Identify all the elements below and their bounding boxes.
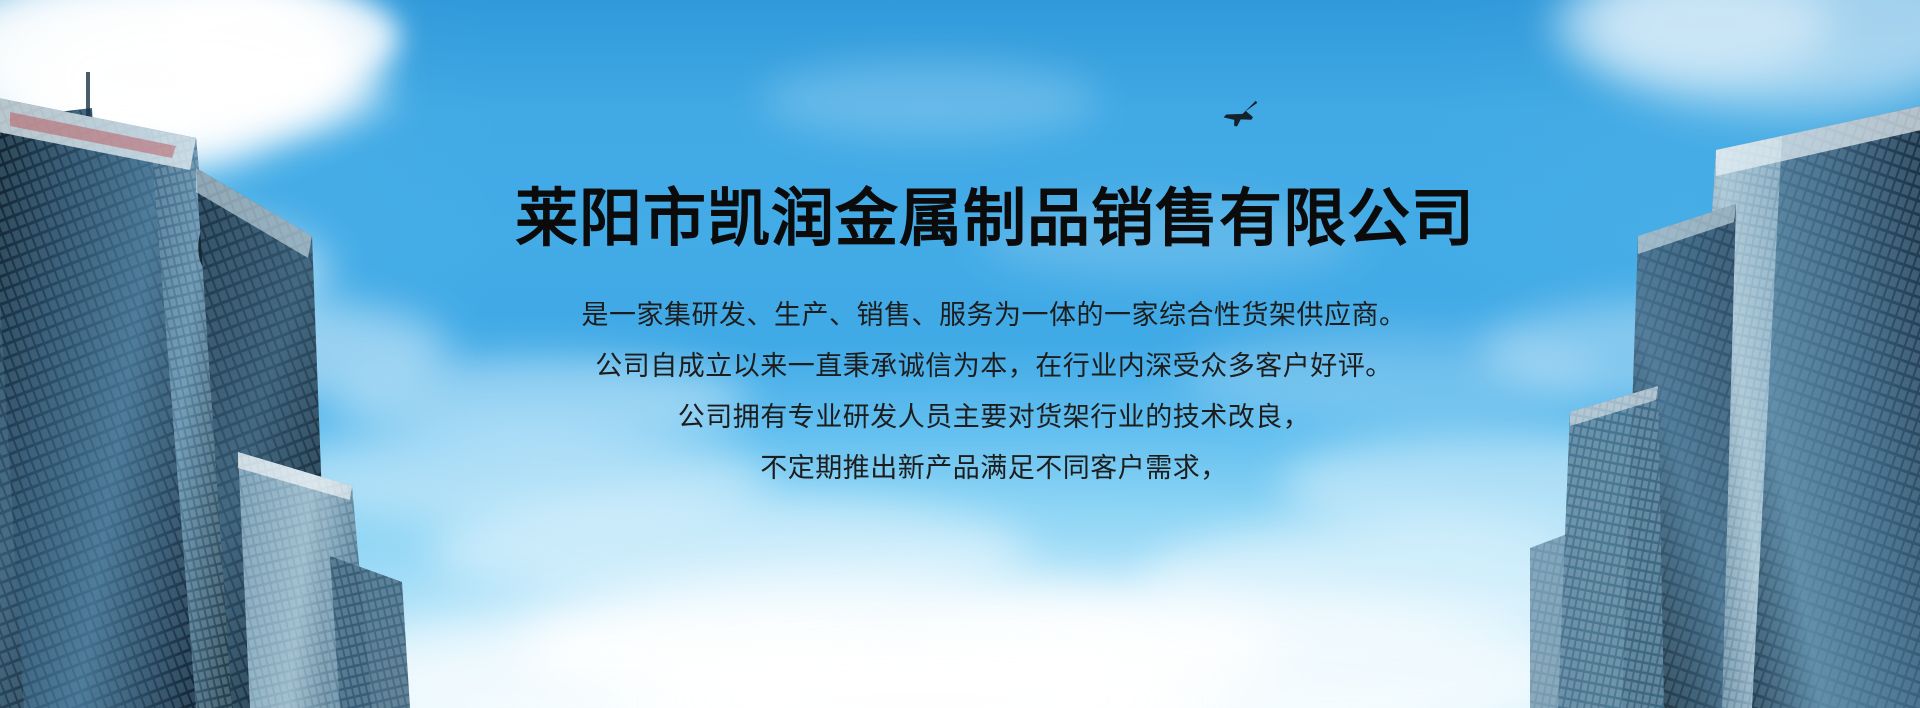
- hero-banner: 莱阳市凯润金属制品销售有限公司 是一家集研发、生产、销售、服务为一体的一家综合性…: [0, 0, 1920, 708]
- description-line-2: 公司自成立以来一直秉承诚信为本，在行业内深受众多客户好评。: [68, 341, 1920, 392]
- banner-content: 莱阳市凯润金属制品销售有限公司 是一家集研发、生产、销售、服务为一体的一家综合性…: [0, 0, 1920, 708]
- page-title: 莱阳市凯润金属制品销售有限公司: [0, 185, 1920, 254]
- description-line-3: 公司拥有专业研发人员主要对货架行业的技术改良，: [68, 392, 1920, 443]
- description-line-1: 是一家集研发、生产、销售、服务为一体的一家综合性货架供应商。: [68, 290, 1920, 341]
- banner-description: 是一家集研发、生产、销售、服务为一体的一家综合性货架供应商。 公司自成立以来一直…: [0, 290, 1920, 494]
- description-line-4: 不定期推出新产品满足不同客户需求，: [68, 443, 1920, 494]
